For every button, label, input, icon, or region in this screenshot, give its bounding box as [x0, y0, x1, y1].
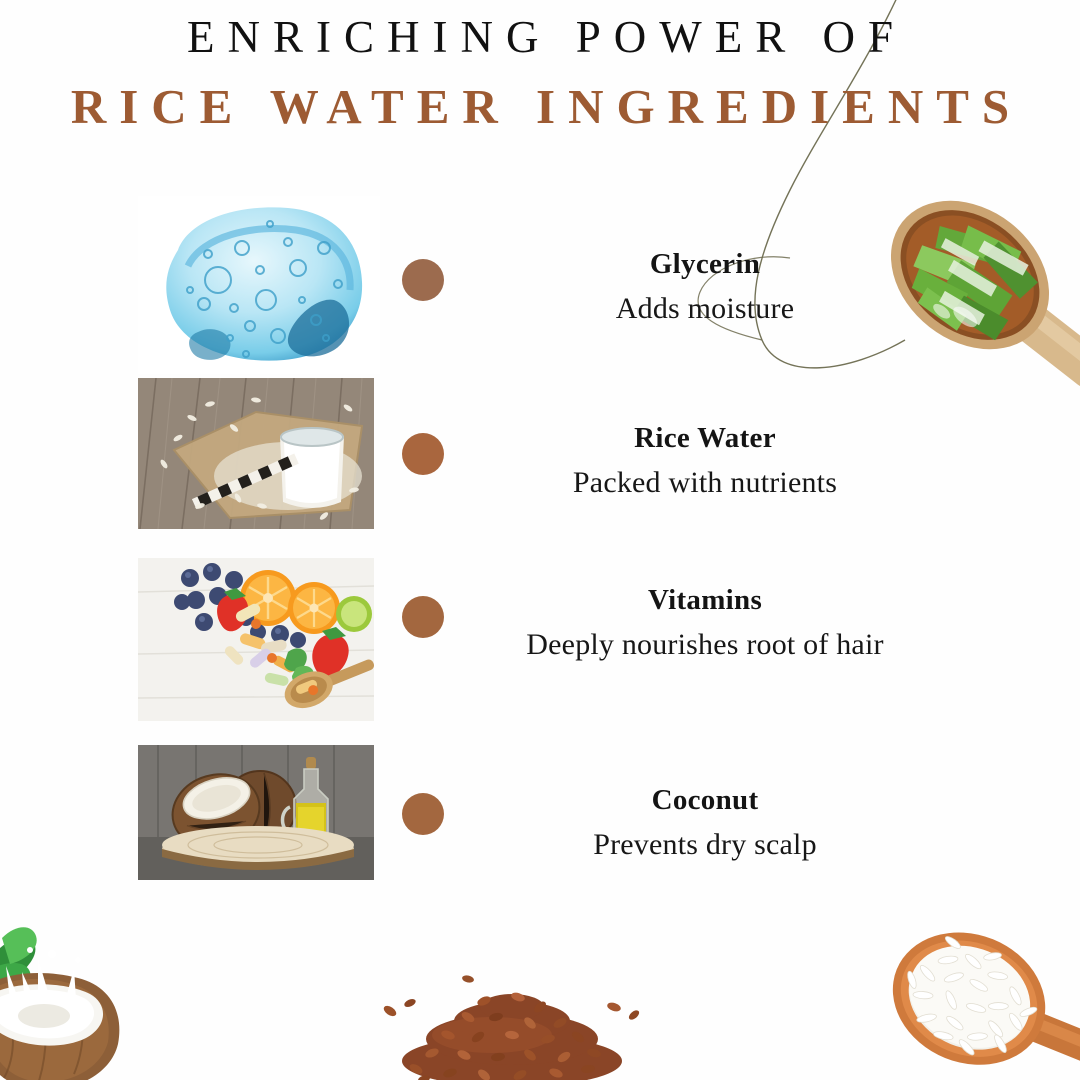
bullet-dot-glycerin: [402, 259, 444, 301]
ingredient-image-rice-water: [138, 378, 374, 529]
ingredient-text-rice-water: Rice Water Packed with nutrients: [480, 420, 930, 503]
page-title: ENRICHING POWER OF RICE WATER INGREDIENT…: [0, 6, 1080, 140]
bullet-dot-rice-water: [402, 433, 444, 475]
ingredient-text-vitamins: Vitamins Deeply nourishes root of hair: [455, 582, 955, 665]
ingredient-name: Coconut: [480, 782, 930, 818]
ingredient-name: Glycerin: [520, 246, 890, 282]
ingredient-description: Deeply nourishes root of hair: [455, 625, 955, 665]
infographic-poster: ENRICHING POWER OF RICE WATER INGREDIENT…: [0, 0, 1080, 1080]
bullet-dot-coconut: [402, 793, 444, 835]
ingredient-text-coconut: Coconut Prevents dry scalp: [480, 782, 930, 865]
title-line-2: RICE WATER INGREDIENTS: [0, 74, 1080, 140]
ingredient-image-coconut: [138, 745, 374, 880]
ingredient-text-glycerin: Glycerin Adds moisture: [520, 246, 890, 329]
ingredient-description: Packed with nutrients: [480, 463, 930, 503]
ingredient-description: Adds moisture: [520, 289, 890, 329]
ingredient-image-vitamins: [138, 558, 374, 721]
title-line-1: ENRICHING POWER OF: [0, 6, 1080, 68]
bullet-dot-vitamins: [402, 596, 444, 638]
ingredient-name: Vitamins: [455, 582, 955, 618]
ingredient-description: Prevents dry scalp: [480, 825, 930, 865]
ingredient-list: Glycerin Adds moisture: [0, 0, 1080, 1080]
ingredient-image-glycerin: [138, 196, 380, 374]
ingredient-name: Rice Water: [480, 420, 930, 456]
